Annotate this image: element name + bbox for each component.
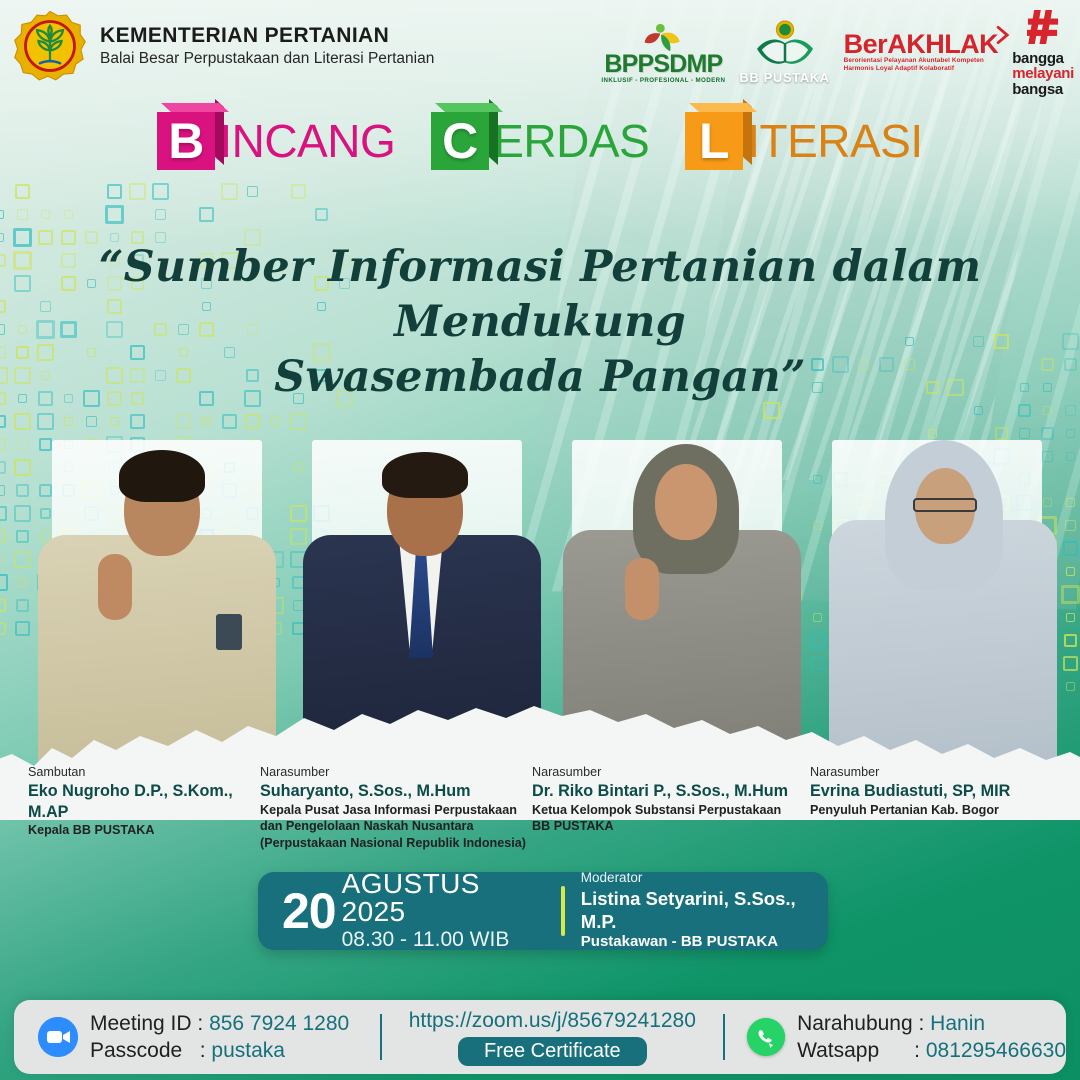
event-month-year: AGUSTUS 2025 — [342, 870, 543, 926]
berakhlak-logo: BerAKHLAK Berorientasi Pelayanan Akuntab… — [844, 32, 999, 74]
bppsdmp-wordmark: BPPSDMP — [604, 53, 722, 76]
speaker-name-block-3: Narasumber Dr. Riko Bintari P., S.Sos., … — [532, 760, 810, 875]
bmb-line-1: bangga — [1012, 51, 1074, 66]
speaker-3-desc-2: BB PUSTAKA — [532, 818, 810, 835]
partner-logos: BPPSDMP INKLUSIF - PROFESIONAL - MODERN … — [601, 8, 1074, 97]
speaker-4-role: Narasumber — [810, 764, 1070, 780]
bb-pustaka-book-icon — [751, 20, 819, 74]
berakhlak-subtitle-2: Harmonis Loyal Adaptif Kolaboratif — [844, 65, 954, 73]
footer-contact-bar: Meeting ID : 856 7924 1280 Passcode : pu… — [14, 1000, 1066, 1074]
zoom-credentials: Meeting ID : 856 7924 1280 Passcode : pu… — [90, 1010, 349, 1065]
title-rest-bincang: INCANG — [219, 118, 395, 164]
speaker-1-hair — [119, 450, 205, 502]
moderator-role: Pustakawan - BB PUSTAKA — [581, 933, 828, 952]
event-title: B INCANG C ERDAS L ITERASI — [0, 112, 1080, 170]
passcode-row: Passcode : pustaka — [90, 1037, 349, 1064]
bppsdmp-logo: BPPSDMP INKLUSIF - PROFESIONAL - MODERN — [601, 23, 725, 84]
bmb-line-2: melayani — [1012, 66, 1074, 81]
title-word-cerdas: C ERDAS — [431, 112, 649, 170]
speaker-name-block-4: Narasumber Evrina Budiastuti, SP, MIR Pe… — [810, 760, 1070, 875]
contact-value: Hanin — [930, 1012, 985, 1035]
title-rest-literasi: ITERASI — [747, 118, 922, 164]
speaker-3-hand — [625, 558, 659, 620]
title-cube-b: B — [157, 112, 215, 170]
bangga-melayani-bangsa-wordmark: bangga melayani bangsa — [1012, 51, 1074, 97]
title-cube-l: L — [685, 112, 743, 170]
title-rest-cerdas: ERDAS — [493, 118, 649, 164]
contact-label: Narahubung — [797, 1012, 913, 1035]
kementerian-pertanian-logo-icon — [14, 10, 86, 82]
title-cube-c: C — [431, 112, 489, 170]
meeting-id-value[interactable]: 856 7924 1280 — [209, 1012, 349, 1035]
bb-pustaka-wordmark: BB PUSTAKA — [739, 70, 829, 85]
bmb-line-3: bangsa — [1012, 82, 1074, 97]
speaker-2-name: Suharyanto, S.Sos., M.Hum — [260, 781, 532, 801]
hashtag-icon — [1027, 8, 1059, 46]
speaker-3-desc-1: Ketua Kelompok Substansi Perpustakaan — [532, 802, 810, 819]
quote-line-1: “Sumber Informasi Pertanian dalam Menduk… — [99, 242, 982, 347]
speaker-1-role: Sambutan — [28, 764, 260, 780]
title-word-bincang: B INCANG — [157, 112, 395, 170]
meeting-id-colon: : — [197, 1012, 209, 1035]
header: KEMENTERIAN PERTANIAN Balai Besar Perpus… — [14, 10, 434, 82]
event-time: 08.30 - 11.00 WIB — [342, 928, 543, 952]
speaker-name-block-2: Narasumber Suharyanto, S.Sos., M.Hum Kep… — [260, 760, 532, 875]
whatsapp-icon — [747, 1018, 785, 1056]
speaker-2-role: Narasumber — [260, 764, 532, 780]
zoom-credentials-section: Meeting ID : 856 7924 1280 Passcode : pu… — [14, 1000, 380, 1074]
banner-divider — [561, 886, 565, 936]
passcode-label: Passcode — [90, 1039, 182, 1062]
speaker-names: Sambutan Eko Nugroho D.P., S.Kom., M.AP … — [0, 760, 1080, 875]
zoom-video-icon — [38, 1017, 78, 1057]
speaker-3-name: Dr. Riko Bintari P., S.Sos., M.Hum — [532, 781, 810, 801]
poster-root: KEMENTERIAN PERTANIAN Balai Besar Perpus… — [0, 0, 1080, 1080]
date-block: 20 AGUSTUS 2025 08.30 - 11.00 WIB — [258, 870, 543, 952]
title-word-literasi: L ITERASI — [685, 112, 922, 170]
bppsdmp-tagline: INKLUSIF - PROFESIONAL - MODERN — [601, 77, 725, 84]
berakhlak-chevron-icon — [996, 25, 1010, 45]
whatsapp-value[interactable]: 081295466630 — [926, 1039, 1066, 1062]
whatsapp-colon: : — [885, 1039, 926, 1062]
zoom-link-section: https://zoom.us/j/85679241280 Free Certi… — [382, 1000, 723, 1074]
event-theme-quote: “Sumber Informasi Pertanian dalam Menduk… — [60, 240, 1020, 405]
contact-colon: : — [919, 1012, 931, 1035]
contact-person-row: Narahubung : Hanin — [797, 1010, 1066, 1037]
speaker-1-hand — [98, 554, 132, 620]
speaker-4-glasses-icon — [913, 498, 977, 512]
zoom-link[interactable]: https://zoom.us/j/85679241280 — [409, 1008, 696, 1033]
event-day: 20 — [282, 889, 336, 933]
speaker-1-id-badge — [216, 614, 242, 650]
bppsdmp-sprout-icon — [635, 23, 691, 53]
speaker-2-desc-1: Kepala Pusat Jasa Informasi Perpustakaan — [260, 802, 532, 819]
speaker-4-desc-1: Penyuluh Pertanian Kab. Bogor — [810, 802, 1070, 819]
moderator-label: Moderator — [581, 870, 828, 886]
whatsapp-label: Watsapp — [797, 1039, 879, 1062]
speaker-2-hair — [382, 452, 468, 498]
whatsapp-row: Watsapp : 081295466630 — [797, 1037, 1066, 1064]
moderator-name: Listina Setyarini, S.Sos., M.P. — [581, 887, 828, 933]
event-date-banner: 20 AGUSTUS 2025 08.30 - 11.00 WIB Modera… — [258, 872, 828, 950]
moderator-block: Moderator Listina Setyarini, S.Sos., M.P… — [581, 870, 828, 951]
speaker-3-face — [655, 464, 717, 540]
speaker-2-desc-3: (Perpustakaan Nasional Republik Indonesi… — [260, 835, 532, 852]
whatsapp-contact-section: Narahubung : Hanin Watsapp : 08129546663… — [725, 1000, 1066, 1074]
speaker-1-name: Eko Nugroho D.P., S.Kom., M.AP — [28, 781, 260, 822]
ministry-title-block: KEMENTERIAN PERTANIAN Balai Besar Perpus… — [100, 24, 434, 68]
speaker-name-block-1: Sambutan Eko Nugroho D.P., S.Kom., M.AP … — [0, 760, 260, 875]
ministry-name: KEMENTERIAN PERTANIAN — [100, 24, 434, 47]
meeting-id-label: Meeting ID — [90, 1012, 192, 1035]
passcode-colon: : — [188, 1039, 211, 1062]
speaker-3-role: Narasumber — [532, 764, 810, 780]
speaker-1-desc-1: Kepala BB PUSTAKA — [28, 822, 260, 839]
speaker-4-name: Evrina Budiastuti, SP, MIR — [810, 781, 1070, 801]
quote-line-2: Swasembada Pangan” — [60, 350, 1020, 405]
bb-pustaka-logo: BB PUSTAKA — [739, 20, 829, 85]
free-certificate-badge[interactable]: Free Certificate — [458, 1037, 647, 1066]
date-details: AGUSTUS 2025 08.30 - 11.00 WIB — [342, 870, 543, 952]
ministry-unit: Balai Besar Perpustakaan dan Literasi Pe… — [100, 49, 434, 68]
speaker-2-desc-2: dan Pengelolaan Naskah Nusantara — [260, 818, 532, 835]
meeting-id-row: Meeting ID : 856 7924 1280 — [90, 1010, 349, 1037]
bangga-melayani-bangsa-logo: bangga melayani bangsa — [1012, 8, 1074, 97]
berakhlak-wordmark: BerAKHLAK — [844, 32, 999, 58]
contact-details: Narahubung : Hanin Watsapp : 08129546663… — [797, 1010, 1066, 1065]
passcode-value[interactable]: pustaka — [211, 1039, 285, 1062]
